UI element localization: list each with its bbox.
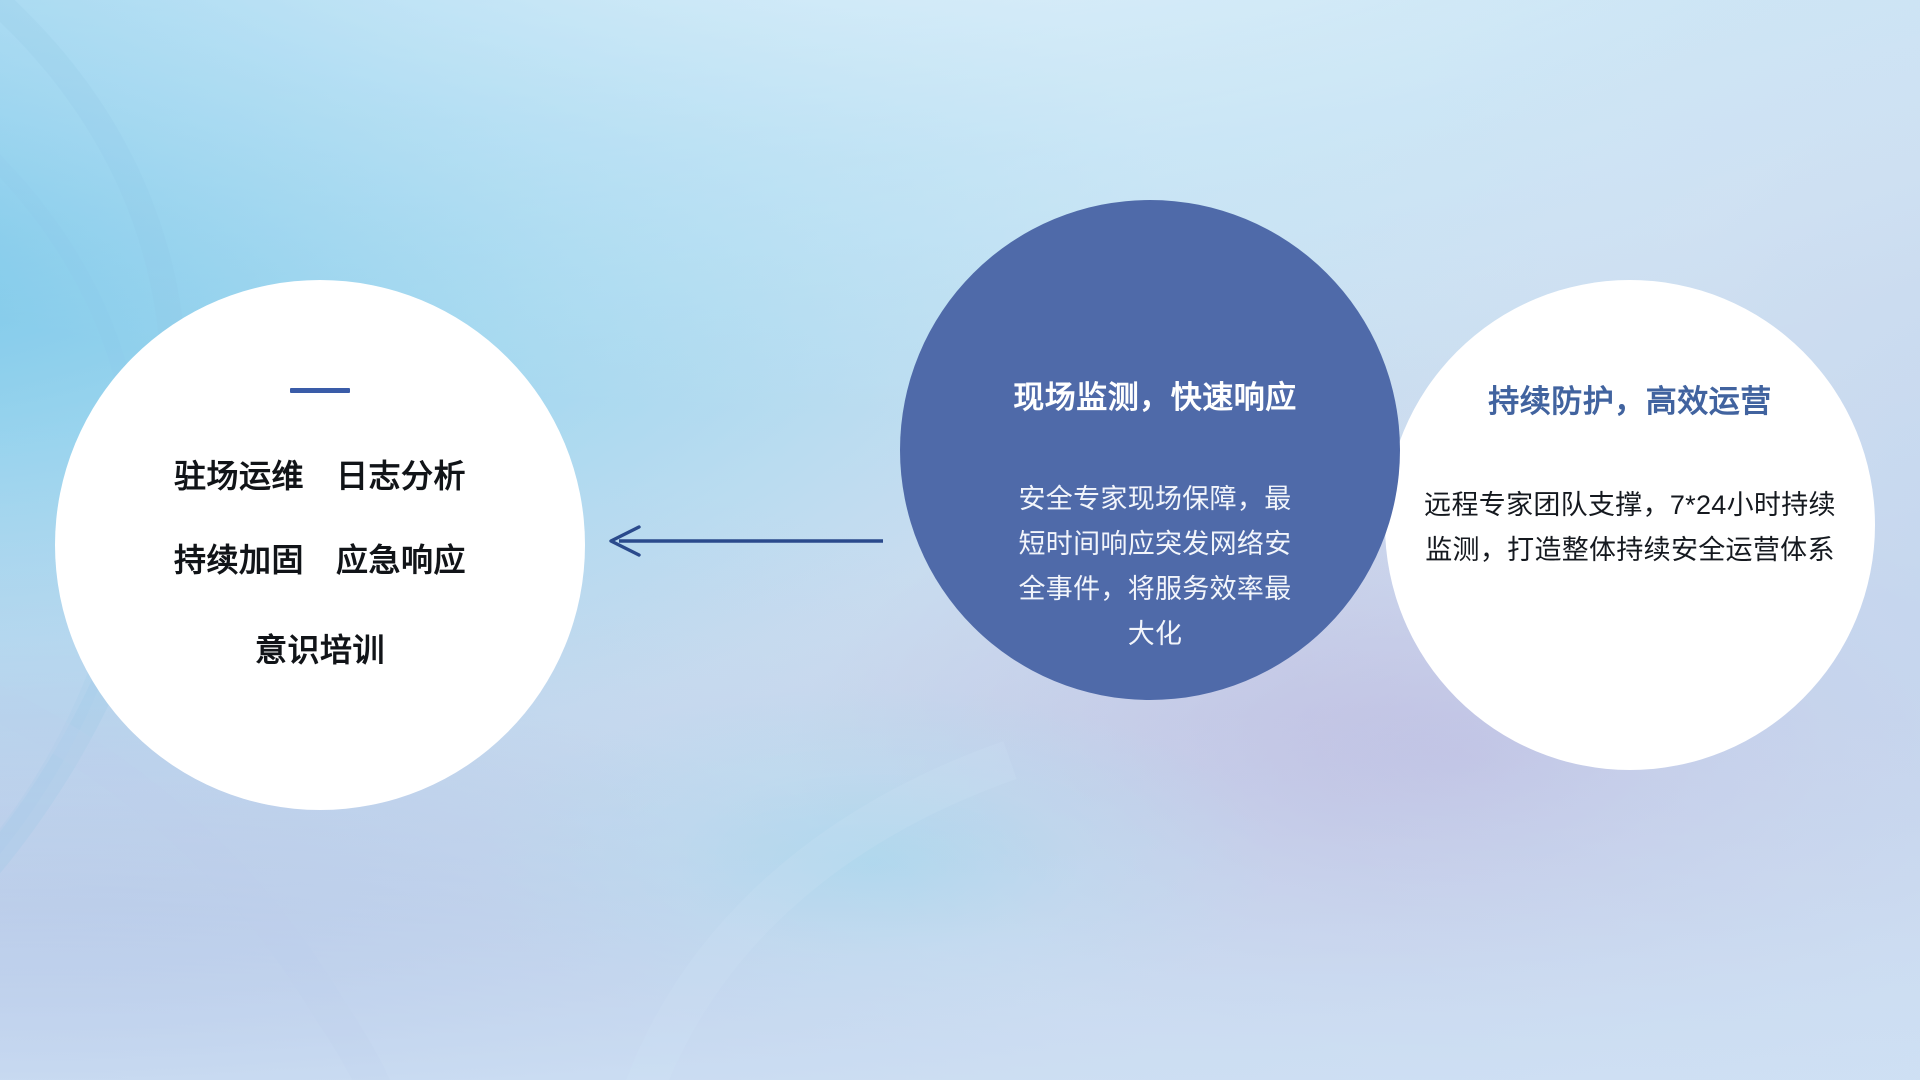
left-circle-content: 驻场运维 日志分析 持续加固 应急响应 意识培训 xyxy=(55,280,585,810)
middle-service-circle[interactable]: 现场监测，快速响应 安全专家现场保障，最短时间响应突发网络安全事件，将服务效率最… xyxy=(900,200,1400,700)
right-circle-title: 持续防护，高效运营 xyxy=(1488,376,1772,421)
service-tag[interactable]: 日志分析 xyxy=(336,451,466,497)
right-circle-content: 持续防护，高效运营 远程专家团队支撑，7*24小时持续监测，打造整体持续安全运营… xyxy=(1385,280,1875,770)
arrow-left-icon xyxy=(595,515,885,567)
service-tag-row: 意识培训 xyxy=(255,625,385,671)
left-service-circle[interactable]: 驻场运维 日志分析 持续加固 应急响应 意识培训 xyxy=(55,280,585,810)
right-service-circle[interactable]: 持续防护，高效运营 远程专家团队支撑，7*24小时持续监测，打造整体持续安全运营… xyxy=(1385,280,1875,770)
service-tag[interactable]: 驻场运维 xyxy=(174,451,304,497)
service-tag[interactable]: 意识培训 xyxy=(255,625,385,671)
right-circle-body: 远程专家团队支撑，7*24小时持续监测，打造整体持续安全运营体系 xyxy=(1420,483,1840,573)
service-tag[interactable]: 应急响应 xyxy=(336,535,466,581)
service-tag-row: 驻场运维 日志分析 xyxy=(174,451,466,497)
middle-circle-title: 现场监测，快速响应 xyxy=(1013,372,1297,417)
middle-circle-content: 现场监测，快速响应 安全专家现场保障，最短时间响应突发网络安全事件，将服务效率最… xyxy=(900,200,1400,700)
left-circle-divider xyxy=(290,388,350,393)
service-tag-row: 持续加固 应急响应 xyxy=(174,535,466,581)
middle-circle-body: 安全专家现场保障，最短时间响应突发网络安全事件，将服务效率最大化 xyxy=(1005,477,1305,657)
service-tag[interactable]: 持续加固 xyxy=(174,535,304,581)
